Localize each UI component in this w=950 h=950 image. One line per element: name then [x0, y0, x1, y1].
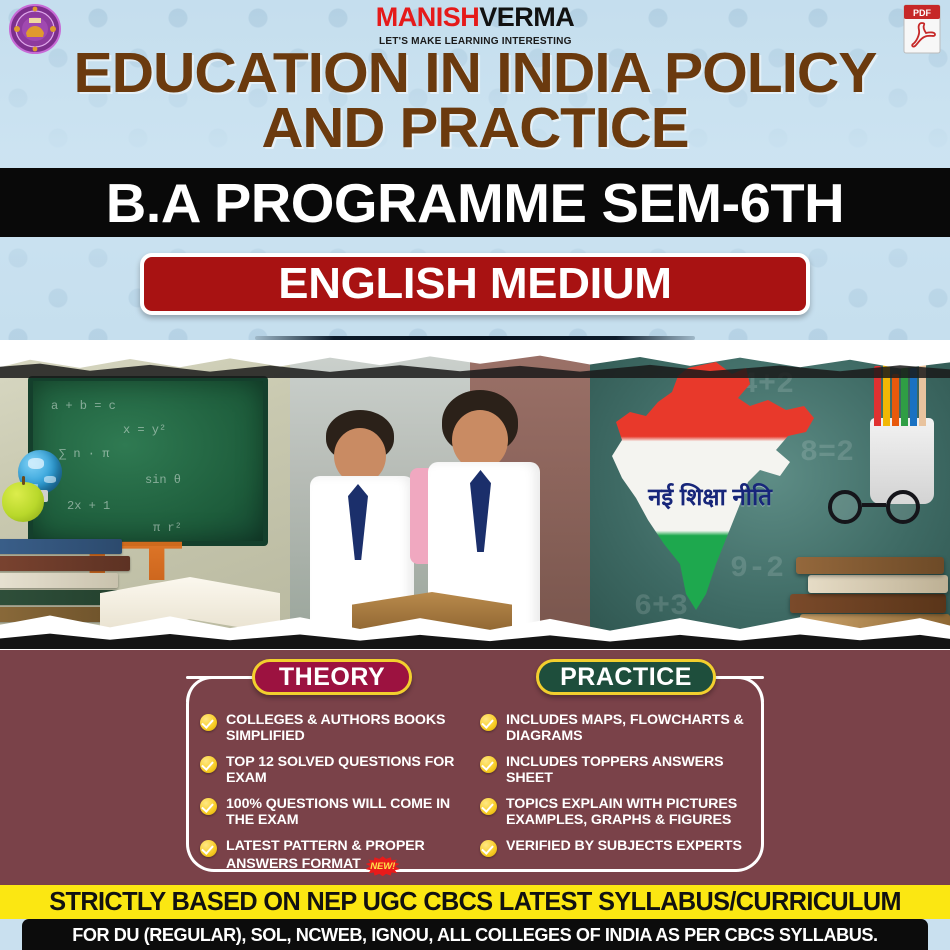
poster-title-line2: AND PRACTICE — [0, 101, 950, 156]
features-frame-corner-right — [738, 676, 764, 702]
photo-collage: a + b = c x = y² ∑ n · π sin θ 2x + 1 π … — [0, 340, 950, 640]
photo-students — [290, 340, 590, 640]
list-item-label: TOPICS EXPLAIN WITH PICTURES EXAMPLES, G… — [506, 796, 750, 829]
brand-tagline: LET'S MAKE LEARNING INTERESTING — [379, 35, 572, 47]
practice-list: INCLUDES MAPS, FLOWCHARTS & DIAGRAMS INC… — [480, 712, 750, 883]
list-item: INCLUDES TOPPERS ANSWERS SHEET — [480, 754, 750, 787]
list-item-label: INCLUDES MAPS, FLOWCHARTS & DIAGRAMS — [506, 712, 750, 745]
list-item-label: INCLUDES TOPPERS ANSWERS SHEET — [506, 754, 750, 787]
new-badge-label: New! — [366, 856, 400, 876]
list-item: LATEST PATTERN & PROPER ANSWERS FORMATNe… — [200, 838, 470, 874]
brand-name: MANISHVERMA — [0, 4, 950, 31]
theory-pill-label: THEORY — [279, 663, 385, 692]
poster-title-line1: EDUCATION IN INDIA POLICY — [0, 46, 950, 101]
check-circle-icon — [480, 714, 497, 731]
poster-title: EDUCATION IN INDIA POLICY AND PRACTICE — [0, 46, 950, 155]
course-band-label: B.A PROGRAMME SEM-6TH — [106, 171, 844, 235]
medium-band: ENGLISH MEDIUM — [140, 253, 810, 315]
header-divider-rule — [255, 336, 695, 340]
poster-root: MANISHVERMA LET'S MAKE LEARNING INTEREST… — [0, 0, 950, 950]
list-item: VERIFIED BY SUBJECTS EXPERTS — [480, 838, 750, 857]
features-frame-top-left — [186, 676, 258, 679]
list-item-label: LATEST PATTERN & PROPER ANSWERS FORMATNe… — [226, 838, 470, 874]
check-circle-icon — [200, 840, 217, 857]
check-circle-icon — [480, 798, 497, 815]
colleges-banner: FOR DU (REGULAR), SOL, NCWEB, IGNOU, ALL… — [22, 919, 928, 950]
check-circle-icon — [480, 840, 497, 857]
list-item-label: VERIFIED BY SUBJECTS EXPERTS — [506, 838, 742, 854]
list-item-label: COLLEGES & AUTHORS BOOKS SIMPLIFIED — [226, 712, 470, 745]
medium-band-label: ENGLISH MEDIUM — [278, 259, 671, 309]
list-item: INCLUDES MAPS, FLOWCHARTS & DIAGRAMS — [480, 712, 750, 745]
list-item: TOPICS EXPLAIN WITH PICTURES EXAMPLES, G… — [480, 796, 750, 829]
check-circle-icon — [480, 756, 497, 773]
theory-list: COLLEGES & AUTHORS BOOKS SIMPLIFIED TOP … — [200, 712, 470, 883]
check-circle-icon — [200, 798, 217, 815]
brand-logo: MANISHVERMA LET'S MAKE LEARNING INTEREST… — [0, 4, 950, 49]
brand-name-first: MANISH — [376, 2, 480, 32]
nep-hindi-label: नई शिक्षा नीति — [610, 480, 810, 513]
svg-text:PDF: PDF — [913, 8, 932, 18]
syllabus-banner-label: STRICTLY BASED ON NEP UGC CBCS LATEST SY… — [49, 888, 901, 917]
brand-name-last: VERMA — [479, 2, 574, 32]
theory-pill: THEORY — [252, 659, 412, 695]
features-columns: COLLEGES & AUTHORS BOOKS SIMPLIFIED TOP … — [186, 712, 764, 883]
features-frame-corner-left — [186, 676, 212, 702]
features-section: THEORY PRACTICE COLLEGES & AUTHORS BOOKS… — [0, 640, 950, 885]
pdf-file-icon[interactable]: PDF — [902, 4, 942, 54]
check-circle-icon — [200, 714, 217, 731]
list-item-label: 100% QUESTIONS WILL COME IN THE EXAM — [226, 796, 470, 829]
syllabus-banner: STRICTLY BASED ON NEP UGC CBCS LATEST SY… — [0, 885, 950, 919]
list-item: COLLEGES & AUTHORS BOOKS SIMPLIFIED — [200, 712, 470, 745]
glasses-icon — [828, 490, 920, 524]
list-item: TOP 12 SOLVED QUESTIONS FOR EXAM — [200, 754, 470, 787]
course-band: B.A PROGRAMME SEM-6TH — [0, 168, 950, 237]
chalkboard-icon: a + b = c x = y² ∑ n · π sin θ 2x + 1 π … — [28, 376, 268, 546]
photo-classroom: a + b = c x = y² ∑ n · π sin θ 2x + 1 π … — [0, 340, 290, 640]
list-item-label: TOP 12 SOLVED QUESTIONS FOR EXAM — [226, 754, 470, 787]
new-badge-icon: New! — [366, 856, 400, 876]
list-item: 100% QUESTIONS WILL COME IN THE EXAM — [200, 796, 470, 829]
photo-nep-map: 4+2 8=2 9-2 6+3 — [590, 340, 950, 640]
apple-icon — [2, 482, 44, 522]
practice-pill: PRACTICE — [536, 659, 716, 695]
check-circle-icon — [200, 756, 217, 773]
colleges-banner-label: FOR DU (REGULAR), SOL, NCWEB, IGNOU, ALL… — [72, 924, 877, 946]
practice-pill-label: PRACTICE — [560, 663, 692, 692]
